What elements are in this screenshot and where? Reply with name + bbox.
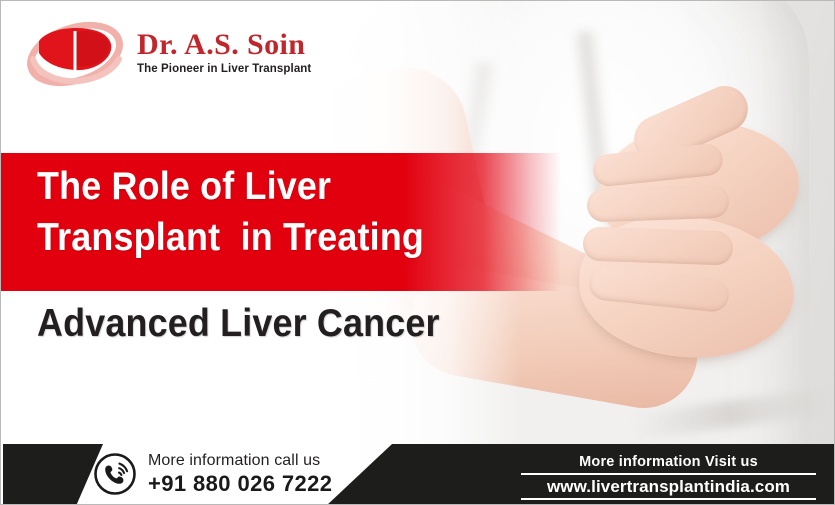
- headline-secondary: Advanced Liver Cancer: [37, 301, 440, 348]
- visit-us-group[interactable]: More information Visit us www.livertrans…: [521, 454, 816, 500]
- call-us-group[interactable]: More information call us +91 880 026 722…: [93, 452, 332, 496]
- promo-banner: Dr. A.S. Soin The Pioneer in Liver Trans…: [0, 0, 835, 505]
- footer-left-shape: [3, 444, 103, 505]
- headline-primary: The Role of Liver Transplant in Treating: [37, 161, 469, 264]
- brand-name: Dr. A.S. Soin: [137, 29, 311, 61]
- footer-bar: More information call us +91 880 026 722…: [1, 414, 835, 504]
- photo-finger: [586, 185, 729, 223]
- call-number[interactable]: +91 880 026 7222: [148, 472, 332, 496]
- photo-finger: [582, 226, 733, 265]
- liver-swoosh-logo-icon: [23, 15, 127, 89]
- brand-logo[interactable]: Dr. A.S. Soin The Pioneer in Liver Trans…: [23, 15, 311, 89]
- brand-text: Dr. A.S. Soin The Pioneer in Liver Trans…: [137, 29, 311, 75]
- visit-label: More information Visit us: [521, 454, 816, 470]
- call-label: More information call us: [148, 452, 332, 470]
- brand-tagline: The Pioneer in Liver Transplant: [137, 63, 311, 75]
- phone-call-icon: [93, 452, 137, 496]
- call-text-block: More information call us +91 880 026 722…: [148, 452, 332, 496]
- visit-url[interactable]: www.livertransplantindia.com: [521, 473, 816, 500]
